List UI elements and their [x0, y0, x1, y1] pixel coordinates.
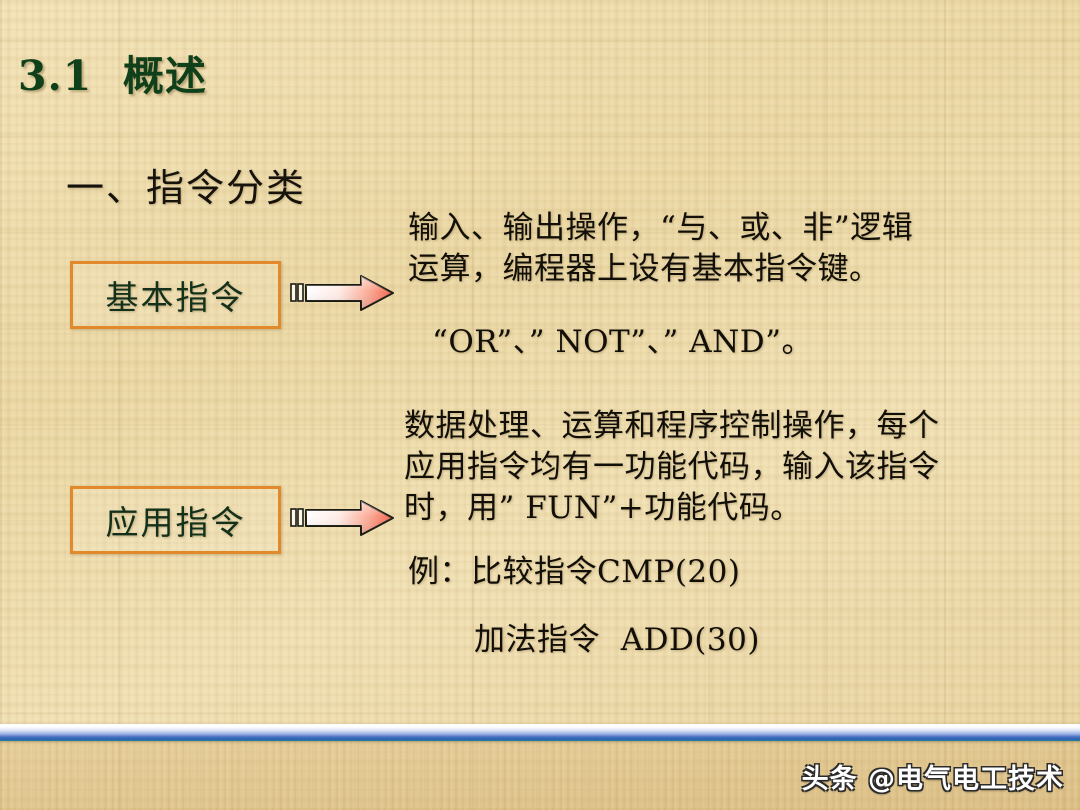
label-box-basic-instruction: 基本指令	[70, 261, 281, 329]
arrow-to-applied-description	[289, 497, 397, 539]
arrow-to-basic-description	[289, 272, 397, 314]
slide-canvas: 3.1 概述 一、指令分类 基本指令	[0, 0, 1080, 810]
label-box-applied-instruction: 应用指令	[70, 486, 281, 554]
label-box-basic-instruction-text: 基本指令	[106, 271, 246, 319]
footer-divider-bar	[0, 724, 1080, 741]
page-title: 3.1 概述	[18, 42, 207, 102]
basic-instruction-description: 输入、输出操作，“与、或、非”逻辑 运算，编程器上设有基本指令键。	[408, 208, 1048, 290]
applied-instruction-description: 数据处理、运算和程序控制操作，每个 应用指令均有一功能代码，输入该指令 时，用”…	[404, 406, 1054, 529]
section-heading: 一、指令分类	[66, 157, 306, 212]
applied-instruction-example-cmp: 例：比较指令CMP(20)	[408, 552, 740, 593]
label-box-applied-instruction-text: 应用指令	[106, 496, 246, 544]
basic-instruction-operators: “OR”、” NOT”、” AND”。	[432, 316, 813, 361]
watermark: 头条 @电气电工技术	[802, 757, 1064, 796]
applied-instruction-example-add: 加法指令 ADD(30)	[474, 620, 760, 661]
